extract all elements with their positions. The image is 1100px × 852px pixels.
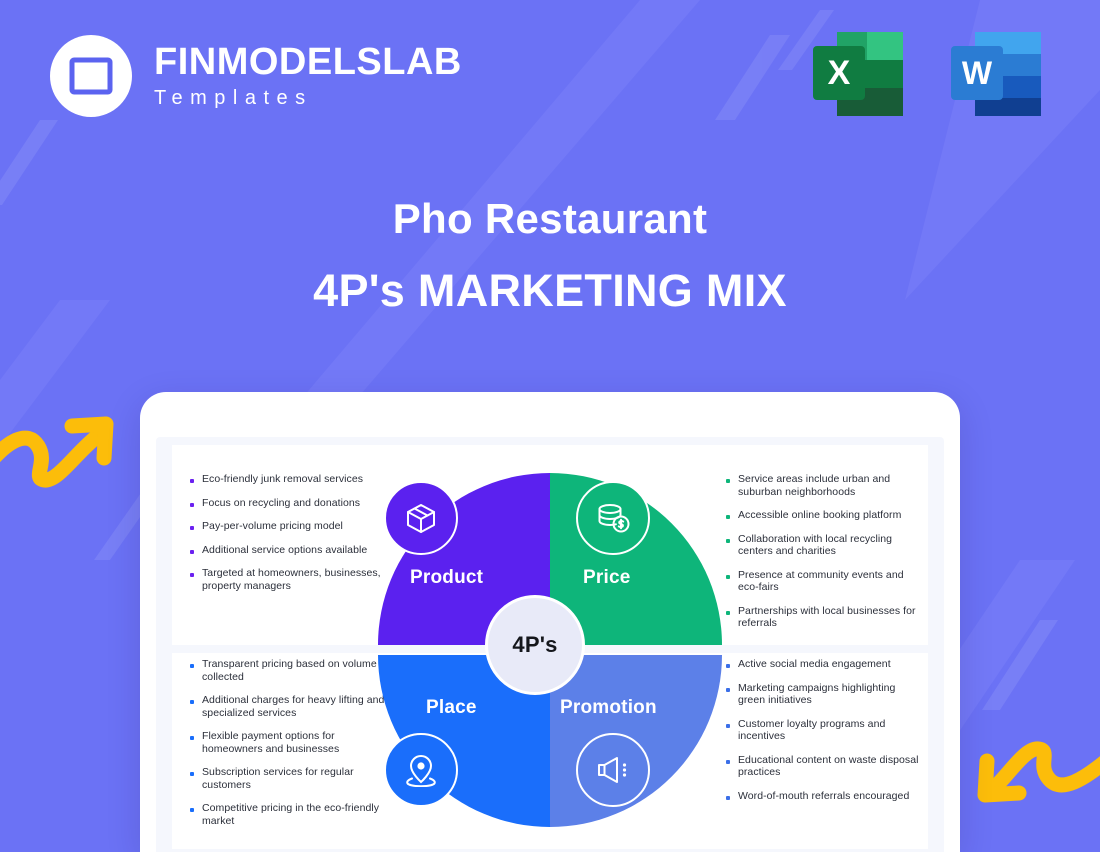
bullet-dot-icon <box>190 526 194 530</box>
bullet-dot-icon <box>190 736 194 740</box>
bullet-list-price: Service areas include urban and suburban… <box>726 473 922 630</box>
list-item: Customer loyalty programs and incentives <box>726 718 922 743</box>
list-item: Active social media engagement <box>726 658 922 671</box>
bullet-text: Educational content on waste disposal pr… <box>738 754 922 779</box>
page-title: Pho Restaurant <box>0 195 1100 243</box>
map-pin-location-icon <box>384 733 458 807</box>
page-header: FINMODELSLAB Templates X W <box>0 0 1100 150</box>
quadrant-label-price: Price <box>583 567 630 589</box>
bullet-text: Transparent pricing based on volume coll… <box>202 658 386 683</box>
brand-tagline: Templates <box>154 87 462 109</box>
word-icon[interactable]: W <box>947 28 1045 122</box>
bullet-text: Service areas include urban and suburban… <box>738 473 922 498</box>
bullet-dot-icon <box>190 772 194 776</box>
list-item: Educational content on waste disposal pr… <box>726 754 922 779</box>
list-item: Eco-friendly junk removal services <box>190 473 386 486</box>
grid-2x2-icon <box>69 54 113 98</box>
bullet-dot-icon <box>190 503 194 507</box>
center-label: 4P's <box>512 632 557 658</box>
box-package-icon <box>384 481 458 555</box>
squiggle-arrow-down-left-icon <box>965 735 1100 840</box>
quadrant-label-product: Product <box>410 567 483 589</box>
title-block: Pho Restaurant 4P's MARKETING MIX <box>0 195 1100 317</box>
logo-mark <box>50 35 132 117</box>
bullet-dot-icon <box>190 479 194 483</box>
content-card: Eco-friendly junk removal services Focus… <box>140 392 960 852</box>
list-item: Marketing campaigns highlighting green i… <box>726 682 922 707</box>
brand-name: FINMODELSLAB <box>154 43 462 83</box>
list-item: Additional service options available <box>190 544 386 557</box>
bullet-list-product: Eco-friendly junk removal services Focus… <box>190 473 386 592</box>
bullet-text: Collaboration with local recycling cente… <box>738 533 922 558</box>
bullet-text: Customer loyalty programs and incentives <box>738 718 922 743</box>
bullet-text: Accessible online booking platform <box>738 509 901 522</box>
list-item: Competitive pricing in the eco-friendly … <box>190 802 386 827</box>
bullet-text: Additional charges for heavy lifting and… <box>202 694 386 719</box>
brand-logo[interactable]: FINMODELSLAB Templates <box>50 35 462 117</box>
quadrant-label-place: Place <box>426 697 477 719</box>
list-item: Collaboration with local recycling cente… <box>726 533 922 558</box>
list-item: Additional charges for heavy lifting and… <box>190 694 386 719</box>
bullet-text: Targeted at homeowners, businesses, prop… <box>202 567 386 592</box>
bullet-text: Partnerships with local businesses for r… <box>738 605 922 630</box>
list-item: Accessible online booking platform <box>726 509 922 522</box>
bullet-text: Marketing campaigns highlighting green i… <box>738 682 922 707</box>
list-item: Pay-per-volume pricing model <box>190 520 386 533</box>
svg-text:W: W <box>962 55 993 91</box>
diagram-center: 4P's <box>485 595 585 695</box>
list-item: Service areas include urban and suburban… <box>726 473 922 498</box>
bullet-text: Additional service options available <box>202 544 367 557</box>
squiggle-arrow-up-right-icon <box>0 400 130 495</box>
list-item: Transparent pricing based on volume coll… <box>190 658 386 683</box>
quadrant-label-promotion: Promotion <box>560 697 657 719</box>
coins-dollar-icon <box>576 481 650 555</box>
bullet-text: Focus on recycling and donations <box>202 497 360 510</box>
list-item: Focus on recycling and donations <box>190 497 386 510</box>
format-badges: X W <box>809 28 1045 122</box>
bullet-dot-icon <box>190 664 194 668</box>
bullet-list-promotion: Active social media engagement Marketing… <box>726 658 922 802</box>
bullet-text: Eco-friendly junk removal services <box>202 473 363 486</box>
bullet-text: Active social media engagement <box>738 658 891 671</box>
excel-icon[interactable]: X <box>809 28 907 122</box>
bullet-text: Pay-per-volume pricing model <box>202 520 343 533</box>
bullet-list-place: Transparent pricing based on volume coll… <box>190 658 386 827</box>
bullet-text: Subscription services for regular custom… <box>202 766 386 791</box>
diagram-panel-inner: Eco-friendly junk removal services Focus… <box>172 445 928 849</box>
bullet-dot-icon <box>190 573 194 577</box>
list-item: Partnerships with local businesses for r… <box>726 605 922 630</box>
megaphone-icon <box>576 733 650 807</box>
list-item: Word-of-mouth referrals encouraged <box>726 790 922 803</box>
bullet-text: Word-of-mouth referrals encouraged <box>738 790 909 803</box>
page-subtitle: 4P's MARKETING MIX <box>0 265 1100 317</box>
svg-text:X: X <box>828 54 851 92</box>
bullet-dot-icon <box>190 700 194 704</box>
bullet-text: Competitive pricing in the eco-friendly … <box>202 802 386 827</box>
bullet-dot-icon <box>190 808 194 812</box>
list-item: Flexible payment options for homeowners … <box>190 730 386 755</box>
bullet-dot-icon <box>190 550 194 554</box>
list-item: Targeted at homeowners, businesses, prop… <box>190 567 386 592</box>
bullet-text: Flexible payment options for homeowners … <box>202 730 386 755</box>
bullet-text: Presence at community events and eco-fai… <box>738 569 922 594</box>
list-item: Presence at community events and eco-fai… <box>726 569 922 594</box>
diagram-panel: Eco-friendly junk removal services Focus… <box>156 437 944 852</box>
four-ps-donut-diagram: Product Price Place Promotion <box>364 455 736 837</box>
list-item: Subscription services for regular custom… <box>190 766 386 791</box>
